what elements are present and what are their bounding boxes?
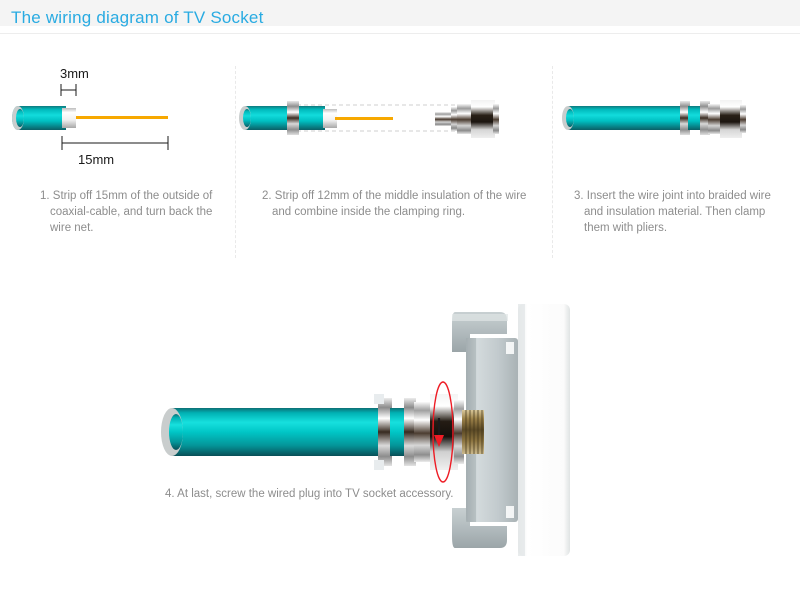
step-panel-2: 2. Strip off 12mm of the middle insulati… xyxy=(235,60,552,260)
wired-plug-assembly xyxy=(161,394,484,470)
final-assembly-illustration xyxy=(0,290,800,580)
dimension-marker-15mm xyxy=(62,136,168,150)
cable-jacket xyxy=(568,106,686,130)
connector-thread xyxy=(462,410,484,454)
title-divider xyxy=(0,33,800,34)
cable-jacket xyxy=(18,106,66,130)
cable-jacket xyxy=(172,408,384,456)
connector-nut xyxy=(720,100,742,138)
step-1-illustration: 3mm xyxy=(0,60,235,180)
crimp-ferrule xyxy=(378,398,392,466)
step-4-caption: 4. At last, screw the wired plug into TV… xyxy=(165,486,565,502)
steps-row: 3mm xyxy=(0,60,800,260)
step-3-caption: 3. Insert the wire joint into braided wi… xyxy=(574,188,792,236)
connector-tip xyxy=(435,112,453,126)
cable-jacket-segment xyxy=(688,106,702,130)
cable-jacket xyxy=(245,106,293,130)
connector-nut xyxy=(471,100,495,138)
cable-jacket-segment xyxy=(299,106,325,130)
connector-rear xyxy=(740,105,746,133)
step-2-caption: 2. Strip off 12mm of the middle insulati… xyxy=(262,188,532,220)
step-panel-1: 3mm xyxy=(0,60,235,260)
socket-faceplate xyxy=(518,304,570,556)
connector-barrel xyxy=(457,104,473,134)
clamping-ring xyxy=(287,101,299,135)
dimension-marker-3mm xyxy=(61,84,76,96)
step-1-caption: 1. Strip off 15mm of the outside of coax… xyxy=(40,188,220,236)
connector-plug xyxy=(435,100,499,138)
connector-plug xyxy=(708,100,746,138)
inner-insulation xyxy=(62,108,76,128)
center-conductor xyxy=(76,116,168,119)
center-conductor xyxy=(335,117,393,120)
dimension-label-3mm: 3mm xyxy=(60,66,89,81)
final-assembly: 4. At last, screw the wired plug into TV… xyxy=(0,290,800,580)
inner-insulation xyxy=(323,109,337,128)
dimension-label-15mm: 15mm xyxy=(78,152,114,167)
step-3-illustration xyxy=(552,60,800,180)
page-title: The wiring diagram of TV Socket xyxy=(11,8,264,28)
connector-rear xyxy=(493,104,499,134)
step-panel-3: 3. Insert the wire joint into braided wi… xyxy=(552,60,800,260)
step-2-illustration xyxy=(235,60,552,180)
connector-barrel xyxy=(708,104,722,134)
